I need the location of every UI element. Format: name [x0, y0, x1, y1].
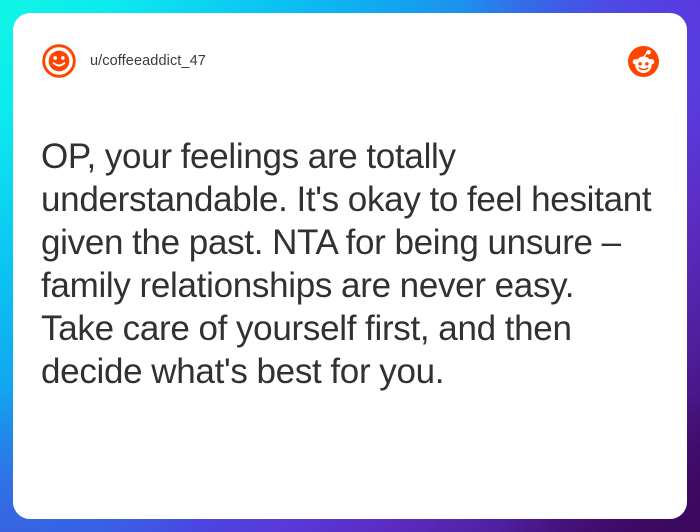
reddit-comment-card: u/coffeeaddict_47 OP, your feelings are … — [13, 13, 687, 519]
gradient-backdrop: u/coffeeaddict_47 OP, your feelings are … — [0, 0, 700, 532]
smiley-face-avatar-icon — [41, 43, 77, 79]
comment-text: OP, your feelings are totally understand… — [41, 135, 655, 393]
card-header: u/coffeeaddict_47 — [41, 39, 659, 83]
reddit-snoo-logo-icon[interactable] — [628, 46, 659, 77]
username-label: u/coffeeaddict_47 — [90, 53, 206, 69]
